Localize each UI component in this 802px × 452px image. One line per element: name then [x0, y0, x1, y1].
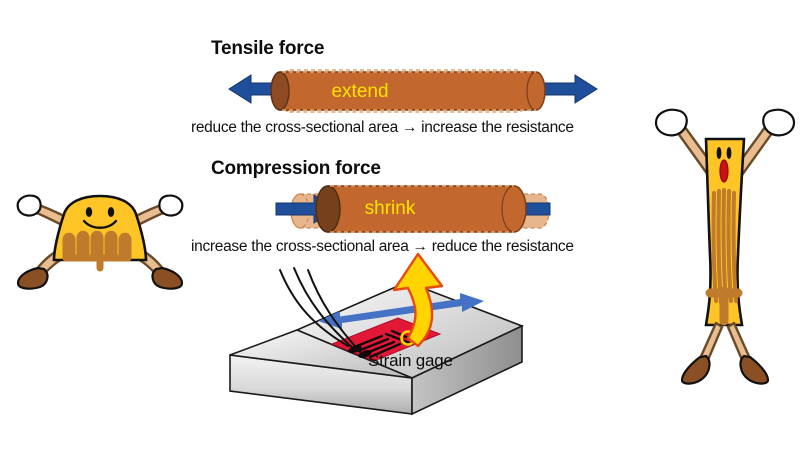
character-gloves	[656, 110, 794, 136]
compression-caption: increase the cross-sectional area → redu…	[191, 238, 574, 256]
strain-gage-principle-figure: Tensile force	[0, 0, 802, 452]
compression-bar-label: shrink	[335, 198, 445, 220]
tensile-right-arrow	[538, 75, 597, 103]
compression-heading: Compression force	[211, 158, 381, 180]
tensile-heading: Tensile force	[211, 38, 324, 60]
strain-gage-label: Strain gage	[368, 351, 453, 371]
character-shoes	[682, 356, 768, 384]
compressed-gage-character	[10, 170, 190, 292]
tensile-bar-label: extend	[300, 81, 420, 103]
strain-gage-plate-illustration	[222, 268, 542, 428]
character-mouth	[720, 160, 728, 182]
stretched-gage-character	[648, 95, 798, 385]
character-gage-grid	[66, 234, 128, 268]
tensile-caption: reduce the cross-sectional area → increa…	[191, 119, 574, 137]
